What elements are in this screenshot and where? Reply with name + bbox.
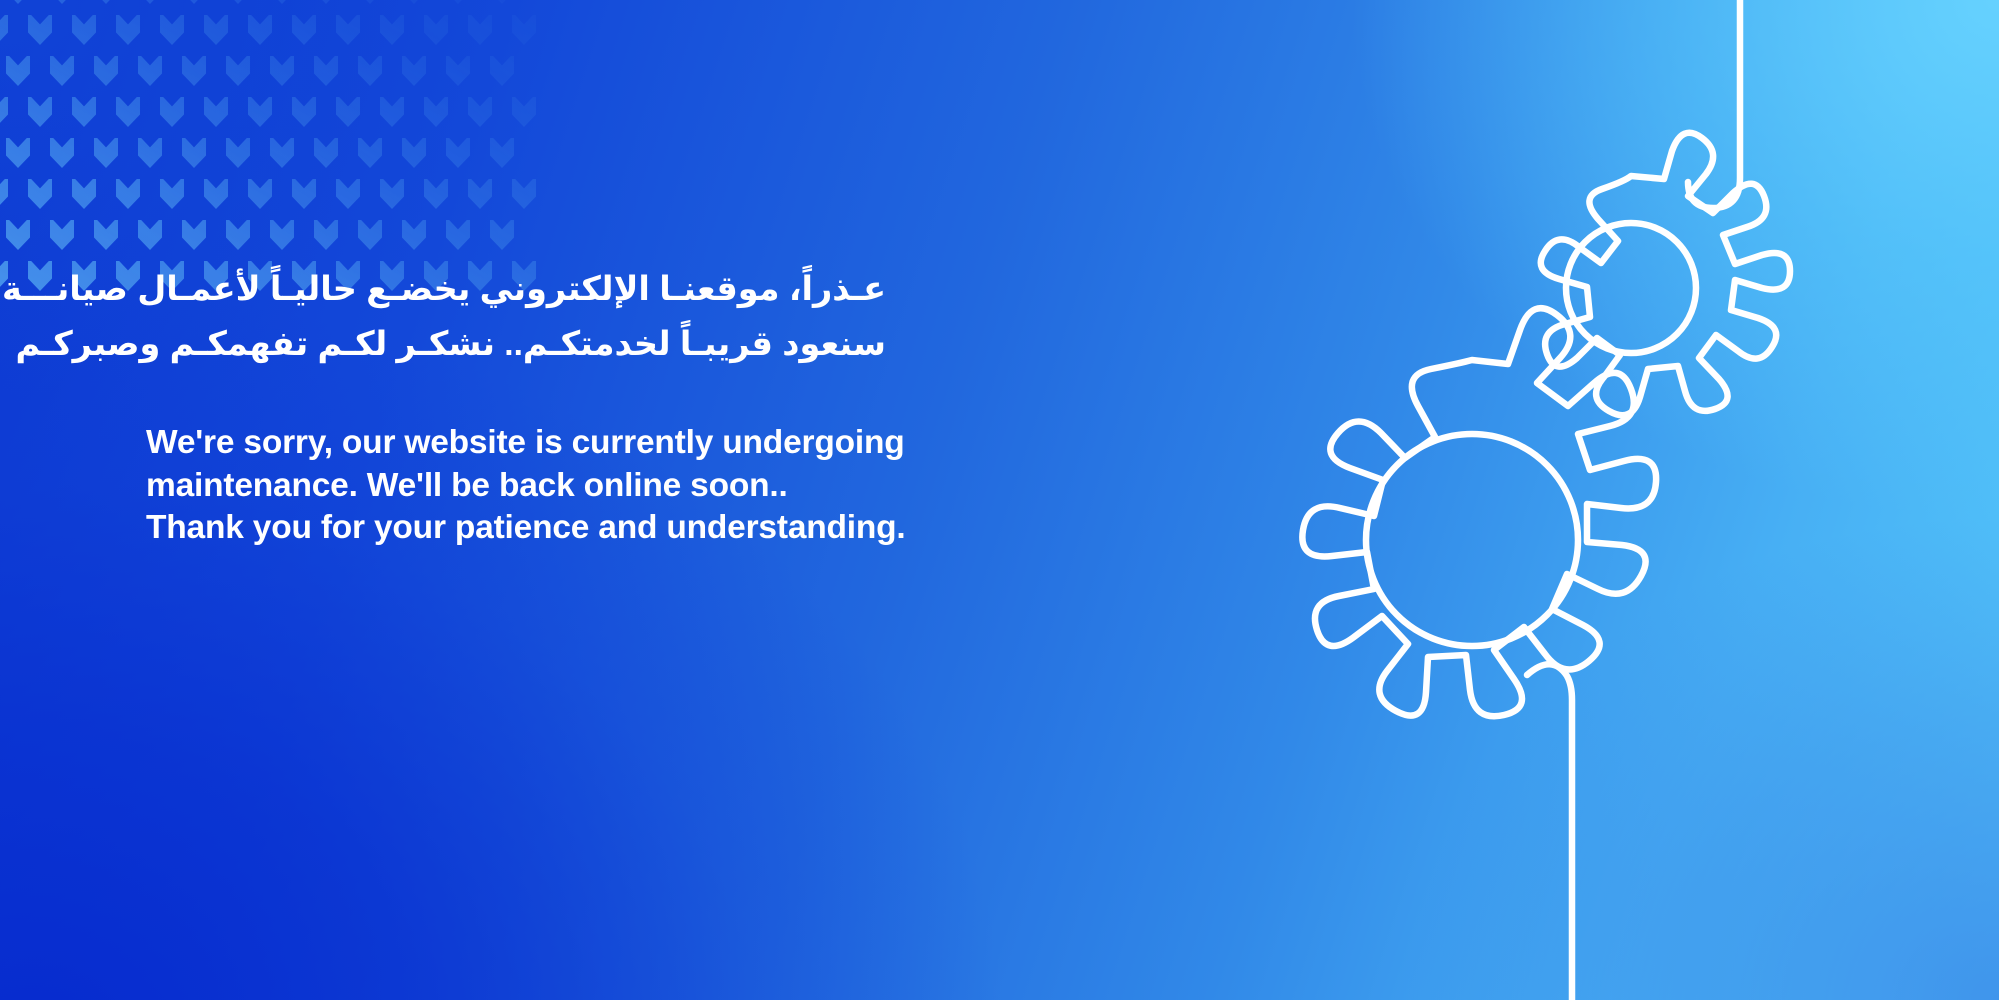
gear-artwork xyxy=(1239,0,1999,1000)
arabic-message-line-1: عـذراً، موقعنـا الإلكتروني يخضـع حاليـاً… xyxy=(146,262,886,317)
small-gear-rim xyxy=(1541,133,1790,415)
small-gear-hub xyxy=(1566,223,1696,353)
large-gear-hub xyxy=(1366,434,1578,646)
top-connector-line xyxy=(1688,0,1740,208)
english-message-line-3: Thank you for your patience and understa… xyxy=(146,507,1046,550)
arabic-message-line-2: سنعود قريبـاً لخدمتكـم.. نشكـر لكـم تفهم… xyxy=(146,317,886,372)
english-message-line-2: maintenance. We'll be back online soon.. xyxy=(146,465,1046,508)
english-message: We're sorry, our website is currently un… xyxy=(146,422,1046,550)
message-block: عـذراً، موقعنـا الإلكتروني يخضـع حاليـاً… xyxy=(146,262,1046,550)
english-message-line-1: We're sorry, our website is currently un… xyxy=(146,422,1046,465)
maintenance-page: عـذراً، موقعنـا الإلكتروني يخضـع حاليـاً… xyxy=(0,0,1999,1000)
chevron-pattern xyxy=(0,0,544,304)
bottom-connector-line xyxy=(1527,664,1572,1000)
arabic-message: عـذراً، موقعنـا الإلكتروني يخضـع حاليـاً… xyxy=(146,262,886,372)
large-gear-rim xyxy=(1302,308,1656,716)
